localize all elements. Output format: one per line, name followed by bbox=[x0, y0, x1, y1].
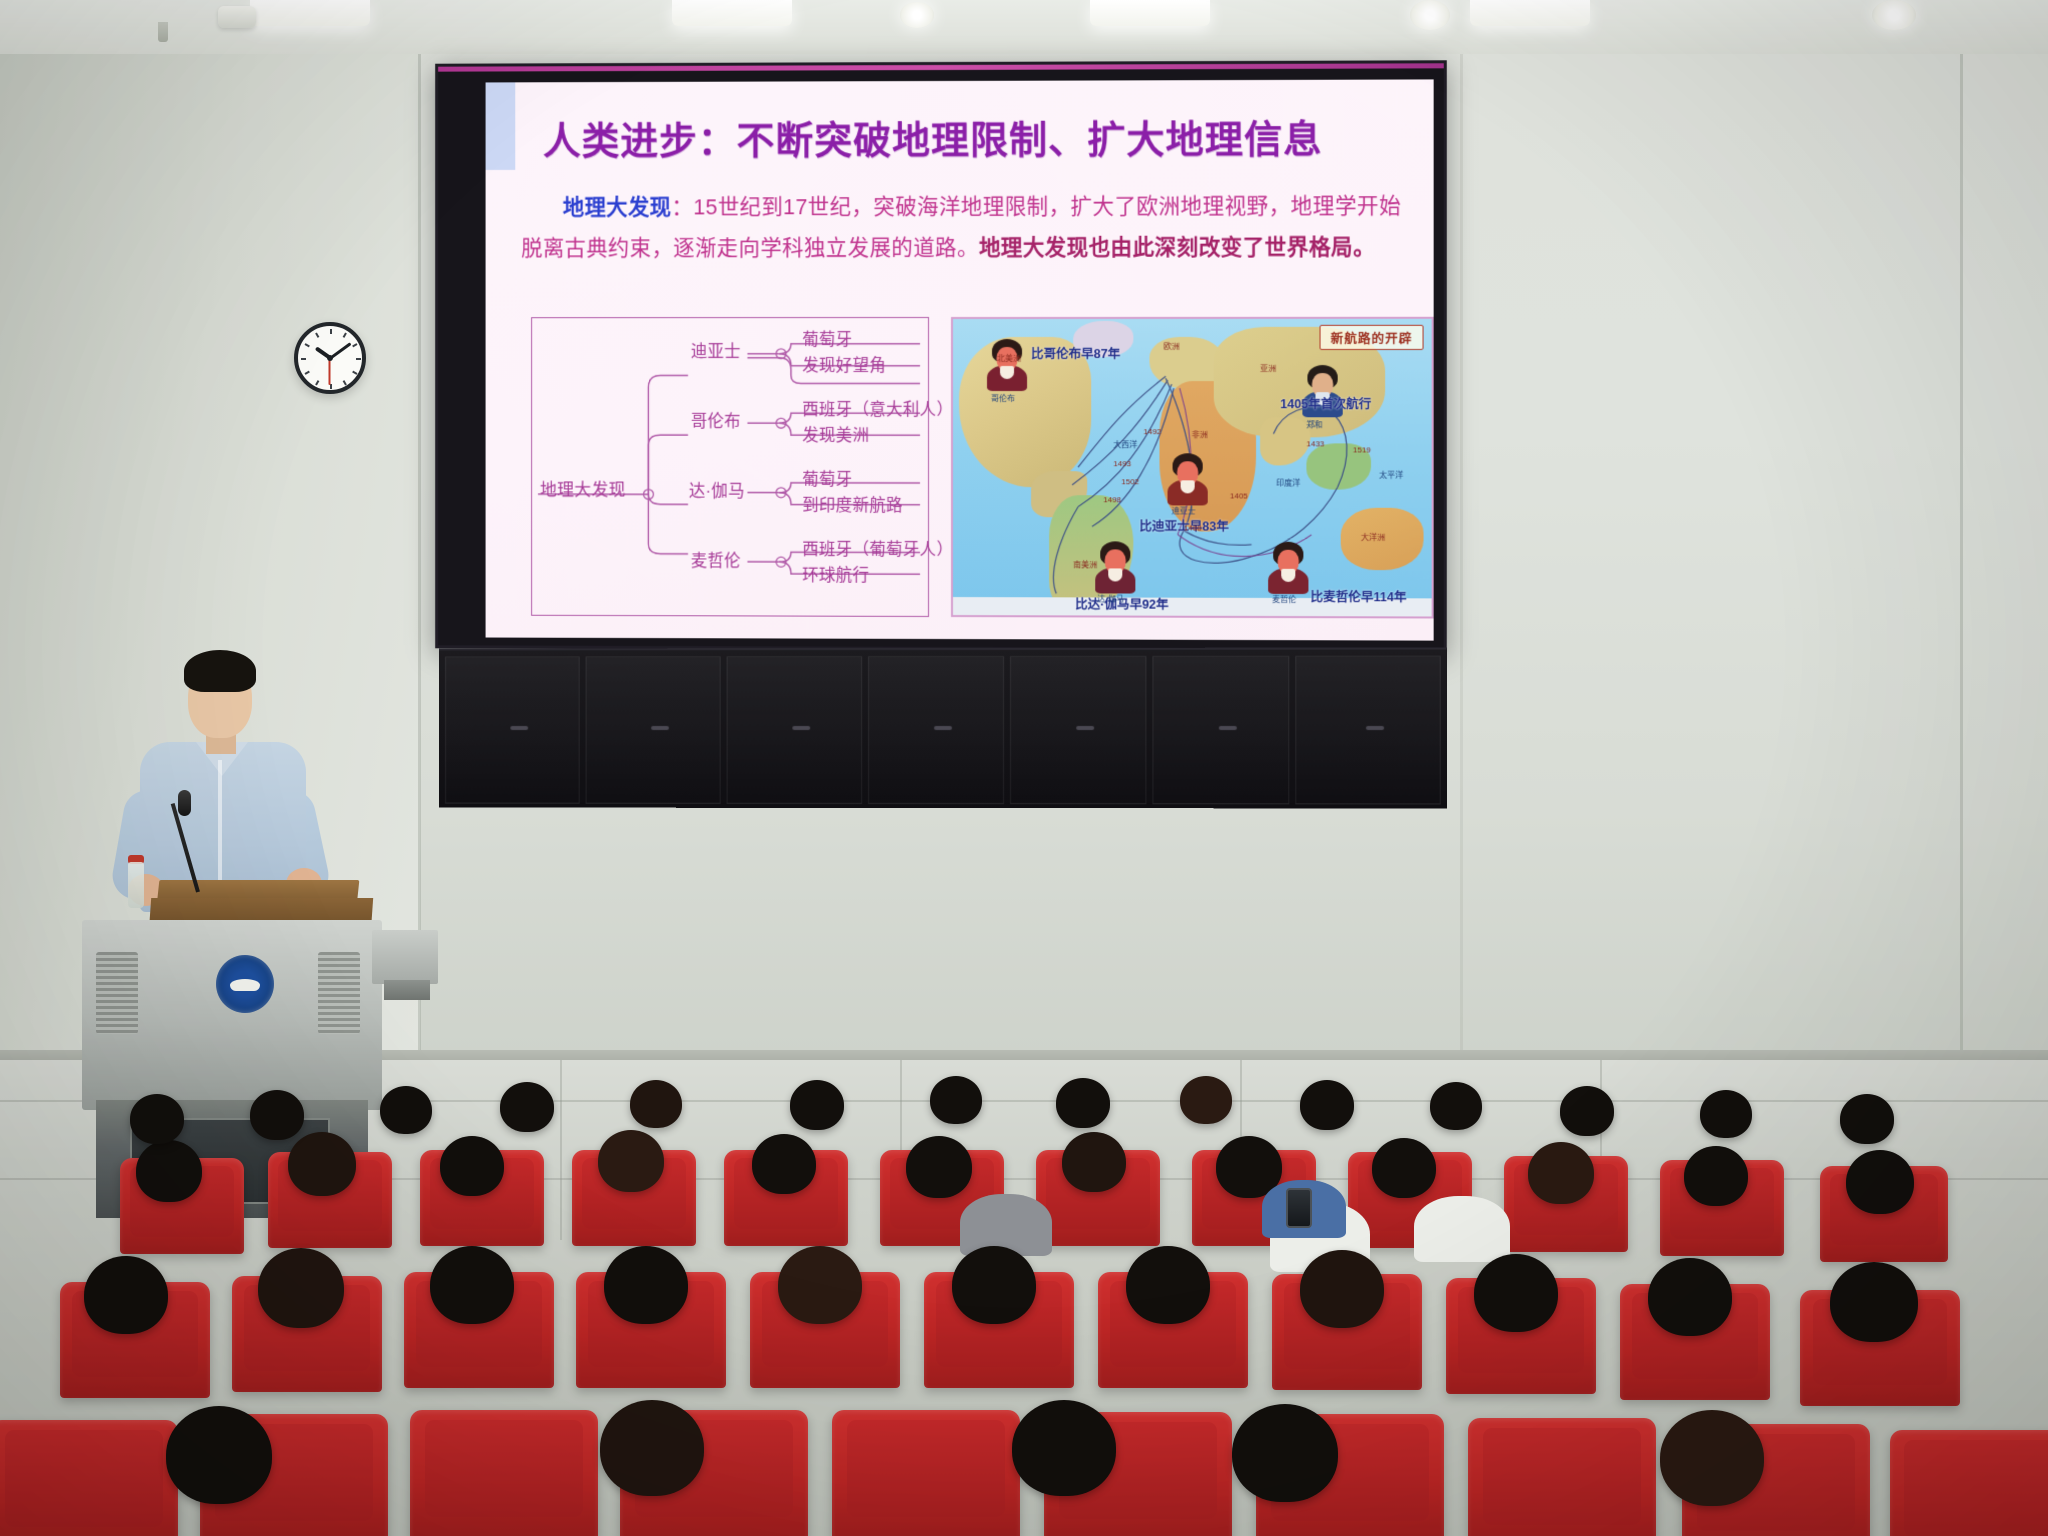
map-label-europe: 欧洲 bbox=[1164, 341, 1180, 352]
seat[interactable] bbox=[832, 1410, 1020, 1536]
ceiling-downlight bbox=[1872, 0, 1916, 30]
paragraph-line2-bold: 地理大发现也由此深刻改变了世界格局。 bbox=[979, 235, 1375, 260]
route-year-7: 1433 bbox=[1306, 439, 1324, 448]
cabinet-handle[interactable] bbox=[1076, 726, 1094, 730]
map-title-box: 新航路的开辟 bbox=[1320, 325, 1424, 350]
seat[interactable] bbox=[1890, 1430, 2048, 1536]
audience-head bbox=[380, 1086, 432, 1134]
mindmap-achievement-3: 环球航行 bbox=[802, 562, 869, 586]
presenter-shirt-placket bbox=[218, 760, 222, 900]
map-label-asia: 亚洲 bbox=[1260, 363, 1276, 374]
audience-head bbox=[930, 1076, 982, 1124]
led-wall-cabinet bbox=[439, 648, 1447, 809]
screen-top-glow bbox=[438, 63, 1444, 71]
ceiling-light bbox=[250, 0, 370, 26]
portrait-magellan bbox=[1268, 542, 1308, 594]
route-year-2: 1498 bbox=[1103, 495, 1121, 504]
map-caption-columbus: 哥伦布 bbox=[991, 393, 1015, 404]
wall-clock bbox=[294, 322, 366, 394]
route-year-3: 1502 bbox=[1121, 477, 1139, 486]
map-label-south-america: 南美洲 bbox=[1073, 559, 1097, 570]
cabinet-handle[interactable] bbox=[934, 726, 952, 730]
ceiling-light bbox=[1090, 0, 1210, 26]
audience-head bbox=[1062, 1132, 1126, 1192]
route-year-4: 1405 bbox=[1230, 491, 1248, 500]
side-equipment-box bbox=[372, 930, 438, 984]
ceiling-downlight bbox=[900, 2, 934, 28]
map-label-indian: 印度洋 bbox=[1276, 477, 1300, 488]
wall-seam-mid bbox=[1460, 0, 1463, 1060]
sprinkler-icon bbox=[158, 22, 168, 42]
audience-head bbox=[906, 1136, 972, 1198]
mindmap-achievement-2: 到印度新航路 bbox=[802, 492, 903, 516]
paragraph-line1: 15世纪到17世纪，突破海洋地理限制，扩大了欧洲地理视野，地理学开 bbox=[693, 194, 1379, 219]
audience-head bbox=[1528, 1142, 1594, 1204]
audience-head bbox=[250, 1090, 304, 1140]
lectern-speaker-grill bbox=[318, 952, 360, 1034]
audience-head bbox=[430, 1246, 514, 1324]
audience-head bbox=[1180, 1076, 1232, 1124]
audience-head bbox=[778, 1246, 862, 1324]
map-annotation-magellan: 比麦哲伦早114年 bbox=[1310, 586, 1406, 605]
clock-face bbox=[298, 326, 362, 390]
route-year-1: 1493 bbox=[1113, 459, 1131, 468]
seat[interactable] bbox=[410, 1410, 598, 1536]
map-label-atlantic: 大西洋 bbox=[1113, 439, 1137, 450]
audience-head bbox=[1830, 1262, 1918, 1342]
clock-second-hand bbox=[329, 358, 331, 385]
audience-head bbox=[598, 1130, 664, 1192]
audience-head bbox=[630, 1080, 682, 1128]
slide-paragraph: 地理大发现：15世纪到17世纪，突破海洋地理限制，扩大了欧洲地理视野，地理学开始… bbox=[521, 186, 1405, 269]
audience-head bbox=[1846, 1150, 1914, 1214]
cabinet-handle[interactable] bbox=[792, 726, 810, 730]
led-screen-bezel: 人类进步：不断突破地理限制、扩大地理信息 地理大发现：15世纪到17世纪，突破海… bbox=[435, 60, 1447, 651]
audience-head bbox=[288, 1132, 356, 1196]
cabinet-handle[interactable] bbox=[510, 726, 528, 730]
mindmap-country-0: 葡萄牙 bbox=[802, 326, 852, 350]
map-caption-magellan: 麦哲伦 bbox=[1272, 594, 1296, 605]
audience-head bbox=[1056, 1078, 1110, 1128]
audience-head bbox=[1232, 1404, 1338, 1502]
audience-head bbox=[604, 1246, 688, 1324]
mindmap-explorer-0: 迪亚士 bbox=[691, 338, 741, 362]
seat[interactable] bbox=[1468, 1418, 1656, 1536]
audience-head bbox=[84, 1256, 168, 1334]
wall-seam bbox=[418, 0, 421, 1060]
lectern-speaker-grill bbox=[96, 952, 138, 1034]
route-year-0: 1492 bbox=[1143, 427, 1161, 436]
mindmap-diagram: 地理大发现 迪亚士 葡萄牙 发现好望角 哥伦布 西班牙（意大利人） 发现美洲 达… bbox=[531, 317, 929, 617]
audience-head bbox=[1372, 1138, 1436, 1198]
school-crest-icon bbox=[216, 955, 274, 1013]
audience-head bbox=[1300, 1080, 1354, 1130]
audience-head bbox=[1840, 1094, 1894, 1144]
route-year-5: 1488 bbox=[1184, 523, 1202, 532]
historical-route-map: 新航路的开辟 bbox=[951, 317, 1434, 619]
ceiling-light bbox=[1470, 0, 1590, 26]
map-annotation-first-voyage: 1405年首次航行 bbox=[1280, 393, 1371, 412]
portrait-dias bbox=[1168, 453, 1208, 505]
smoke-detector-icon bbox=[218, 6, 256, 28]
audience-head bbox=[130, 1094, 184, 1144]
cabinet-handle[interactable] bbox=[651, 726, 669, 730]
audience-head bbox=[1012, 1400, 1116, 1496]
mindmap-explorer-2: 达·伽马 bbox=[689, 478, 745, 502]
wall-seam-right bbox=[1960, 0, 1963, 1060]
mindmap-explorer-3: 麦哲伦 bbox=[691, 547, 741, 571]
mindmap-country-1: 西班牙（意大利人） bbox=[802, 396, 953, 420]
mindmap-explorer-1: 哥伦布 bbox=[691, 408, 741, 432]
audience-head bbox=[136, 1140, 202, 1202]
mindmap-country-3: 西班牙（葡萄牙人） bbox=[802, 536, 953, 560]
water-bottle bbox=[128, 862, 144, 908]
map-caption-dagama: 达·伽马 bbox=[1097, 593, 1124, 604]
audience-head bbox=[1648, 1258, 1732, 1336]
map-annotation-columbus: 比哥伦布早87年 bbox=[1031, 343, 1120, 362]
audience-head bbox=[790, 1080, 844, 1130]
cabinet-handle[interactable] bbox=[1366, 726, 1384, 730]
ceiling-light bbox=[672, 0, 792, 26]
map-label-pacific: 太平洋 bbox=[1379, 470, 1403, 481]
smartphone-icon bbox=[1286, 1188, 1312, 1228]
clock-center-pin bbox=[327, 355, 333, 361]
mindmap-achievement-1: 发现美洲 bbox=[802, 422, 869, 446]
audience-head bbox=[1126, 1246, 1210, 1324]
slide-accent-block bbox=[486, 82, 516, 170]
portrait-dagama bbox=[1095, 541, 1135, 593]
paragraph-keyword: 地理大发现 bbox=[563, 195, 672, 219]
paragraph-colon: ： bbox=[671, 195, 693, 219]
audience-head bbox=[440, 1136, 504, 1196]
seat[interactable] bbox=[0, 1420, 178, 1536]
presenter-hair bbox=[184, 650, 256, 692]
presentation-slide[interactable]: 人类进步：不断突破地理限制、扩大地理信息 地理大发现：15世纪到17世纪，突破海… bbox=[486, 79, 1434, 640]
audience-head bbox=[752, 1134, 816, 1194]
audience-head bbox=[258, 1248, 344, 1328]
audience-head bbox=[1660, 1410, 1764, 1506]
audience-head bbox=[600, 1400, 704, 1496]
audience-head bbox=[1430, 1082, 1482, 1130]
audience-head bbox=[1560, 1086, 1614, 1136]
mindmap-achievement-0: 发现好望角 bbox=[802, 352, 886, 376]
map-label-africa: 非洲 bbox=[1192, 429, 1208, 440]
map-label-north-america: 北美洲 bbox=[997, 353, 1021, 364]
portrait-columbus bbox=[987, 339, 1027, 391]
audience-head bbox=[1474, 1254, 1558, 1332]
audience-shoulders bbox=[1414, 1196, 1510, 1262]
audience-head bbox=[166, 1406, 272, 1504]
mindmap-country-2: 葡萄牙 bbox=[802, 466, 852, 490]
audience-head bbox=[1684, 1146, 1748, 1206]
mindmap-root-label: 地理大发现 bbox=[540, 475, 626, 500]
audience-head bbox=[1300, 1250, 1384, 1328]
ceiling-downlight bbox=[1410, 0, 1450, 30]
map-caption-zhenghe: 郑和 bbox=[1306, 419, 1322, 430]
cabinet-handle[interactable] bbox=[1219, 726, 1237, 730]
map-caption-dias: 迪亚士 bbox=[1172, 505, 1196, 516]
lecture-hall-scene: 人类进步：不断突破地理限制、扩大地理信息 地理大发现：15世纪到17世纪，突破海… bbox=[0, 0, 2048, 1536]
audience-head bbox=[500, 1082, 554, 1132]
map-label-oceania: 大洋洲 bbox=[1361, 532, 1385, 543]
audience-head bbox=[952, 1246, 1036, 1324]
slide-title: 人类进步：不断突破地理限制、扩大地理信息 bbox=[543, 108, 1393, 165]
microphone-icon bbox=[178, 790, 191, 816]
audience-head bbox=[1700, 1090, 1752, 1138]
route-year-6: 1519 bbox=[1353, 445, 1371, 454]
side-equipment-box-lower bbox=[384, 980, 430, 1000]
